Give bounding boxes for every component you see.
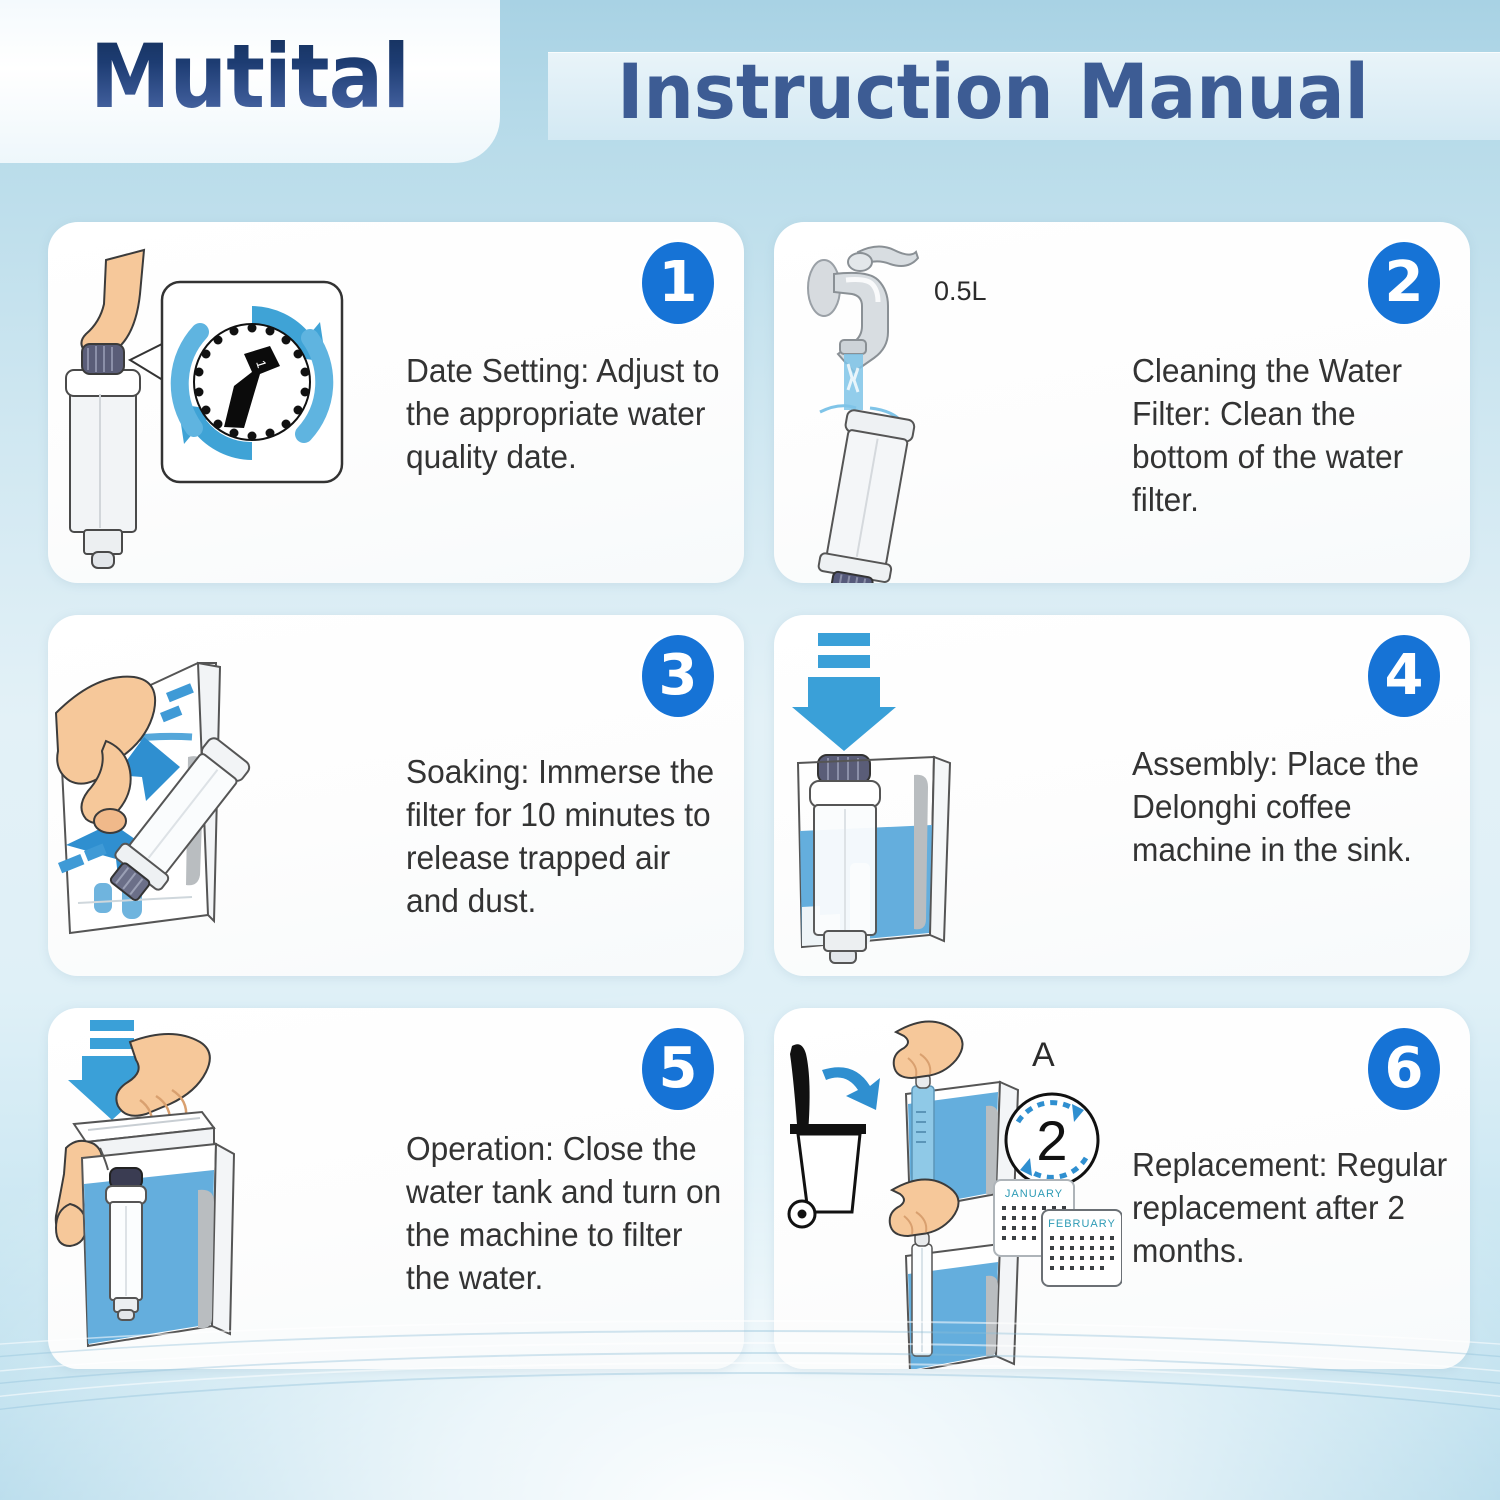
page-title: Instruction Manual (579, 26, 1407, 156)
step-2-illustration: 0.5L (774, 222, 1122, 583)
manual-page: Mutital Instruction Manual (0, 0, 1500, 1500)
step-card-3: 3 Soaking: Immerse the filter for 10 min… (48, 615, 744, 976)
down-arrow-icon (792, 633, 896, 751)
volume-label-text: 0.5L (934, 276, 987, 306)
calendar-month-january: JANUARY (1005, 1188, 1063, 1200)
brand-logo-text: Mutital (85, 33, 415, 131)
step-6-body: 6 Replacement: Regular replacement after… (1122, 1008, 1470, 1369)
step-2-text: Cleaning the Water Filter: Clean the bot… (1132, 350, 1458, 522)
step-1-illustration: 1 2 (48, 222, 396, 583)
step-card-6: A (774, 1008, 1470, 1369)
step-badge-6: 6 (1368, 1028, 1440, 1110)
step-4-body: 4 Assembly: Place the Delonghi coffee ma… (1122, 615, 1470, 976)
step-5-illustration (48, 1008, 396, 1369)
step-badge-1: 1 (642, 242, 714, 324)
step-badge-2: 2 (1368, 242, 1440, 324)
step-2-body: 2 Cleaning the Water Filter: Clean the b… (1122, 222, 1470, 583)
calendar-month-february: FEBRUARY (1048, 1218, 1116, 1230)
step-6-illustration: A (774, 1008, 1122, 1369)
steps-row-2: 3 Soaking: Immerse the filter for 10 min… (48, 615, 1470, 976)
step-badge-3: 3 (642, 635, 714, 717)
step-card-1: 1 2 1 Date Setting: Adjust to the approp… (48, 222, 744, 583)
step-1-body: 1 Date Setting: Adjust to the appropriat… (396, 222, 744, 583)
step-card-4: 4 Assembly: Place the Delonghi coffee ma… (774, 615, 1470, 976)
steps-grid: 1 2 1 Date Setting: Adjust to the approp… (48, 222, 1470, 1401)
label-a: A (1032, 1036, 1055, 1074)
step-1-text: Date Setting: Adjust to the appropriate … (406, 350, 723, 479)
step-5-body: 5 Operation: Close the water tank and tu… (396, 1008, 744, 1369)
brand-logo-box: Mutital (0, 0, 500, 163)
step-6-text: Replacement: Regular replacement after 2… (1132, 1144, 1458, 1273)
months-count: 2 (1036, 1109, 1067, 1172)
step-badge-5: 5 (642, 1028, 714, 1110)
steps-row-3: 5 Operation: Close the water tank and tu… (48, 1008, 1470, 1369)
step-3-body: 3 Soaking: Immerse the filter for 10 min… (396, 615, 744, 976)
steps-row-1: 1 2 1 Date Setting: Adjust to the approp… (48, 222, 1470, 583)
step-4-illustration (774, 615, 1122, 976)
step-card-2: 0.5L 2 Cleaning the Water Filter: Clean … (774, 222, 1470, 583)
step-3-text: Soaking: Immerse the filter for 10 minut… (406, 751, 723, 923)
step-5-text: Operation: Close the water tank and turn… (406, 1128, 723, 1300)
step-badge-4: 4 (1368, 635, 1440, 717)
step-3-illustration (48, 615, 396, 976)
step-4-text: Assembly: Place the Delonghi coffee mach… (1132, 743, 1458, 872)
page-header: Mutital Instruction Manual (0, 0, 1500, 163)
step-card-5: 5 Operation: Close the water tank and tu… (48, 1008, 744, 1369)
